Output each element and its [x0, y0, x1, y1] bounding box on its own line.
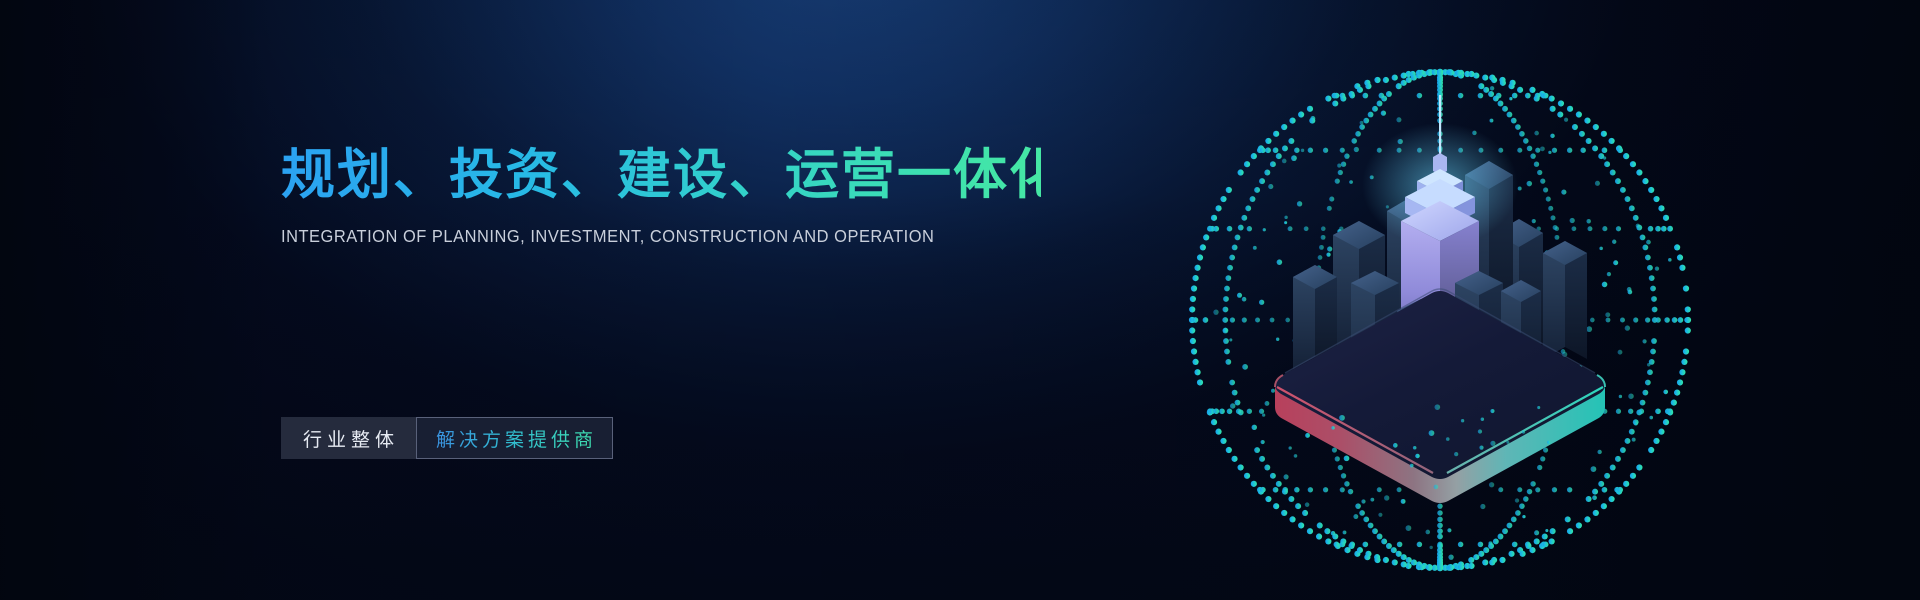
tagline-badge: 行业整体 解决方案提供商: [281, 417, 613, 459]
tagline-badge-right-label: 解决方案提供商: [432, 425, 597, 452]
tagline-badge-left: 行业整体: [281, 417, 416, 459]
banner-subheadline: INTEGRATION OF PLANNING, INVESTMENT, CON…: [281, 226, 995, 247]
banner-headline: 规划、投资、建设、运营一体化: [281, 144, 1041, 208]
building-back-far-right: [1543, 241, 1587, 359]
tagline-badge-right: 解决方案提供商: [416, 417, 613, 459]
banner-copy: 规划、投资、建设、运营一体化 INTEGRATION OF PLANNING, …: [281, 144, 1041, 247]
hero-banner: 规划、投资、建设、运营一体化 INTEGRATION OF PLANNING, …: [0, 0, 1920, 600]
smart-city-globe-illustration: [1165, 35, 1715, 585]
tower-antenna: [1439, 95, 1441, 157]
